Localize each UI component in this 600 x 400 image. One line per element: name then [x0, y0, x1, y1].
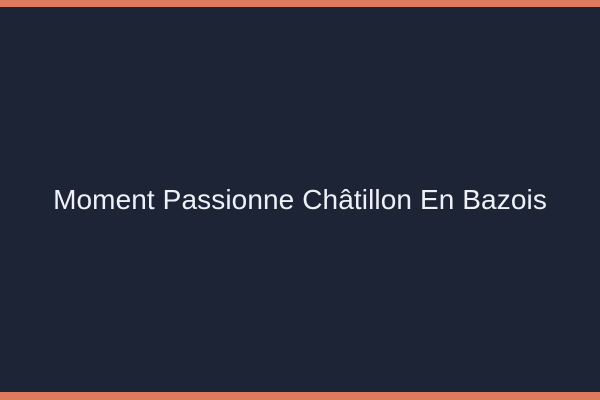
top-accent-bar — [0, 0, 600, 7]
placeholder-title: Moment Passionne Châtillon En Bazois — [53, 182, 547, 217]
placeholder-image-card: Moment Passionne Châtillon En Bazois — [0, 0, 600, 400]
placeholder-content-area: Moment Passionne Châtillon En Bazois — [0, 7, 600, 392]
bottom-accent-bar — [0, 392, 600, 400]
